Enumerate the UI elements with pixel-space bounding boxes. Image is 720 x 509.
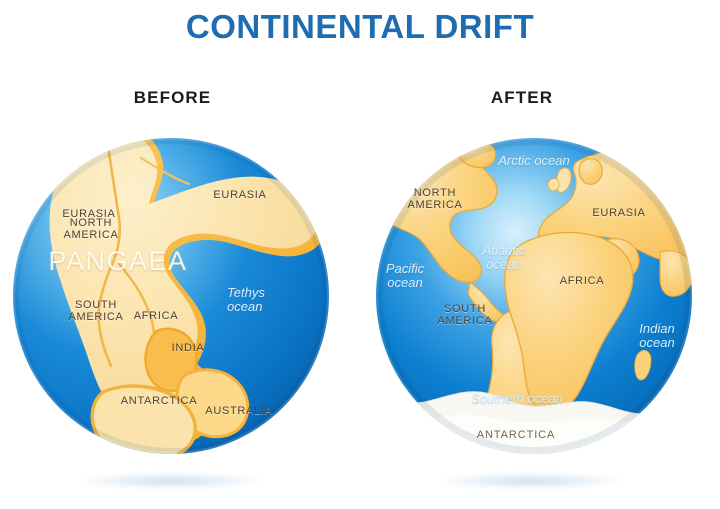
globe-before-pangaea: EURASIA NORTH AMERICA PANGAEA SOUTH AMER… <box>11 136 331 456</box>
poster-canvas: CONTINENTAL DRIFT BEFORE AFTER <box>0 0 720 509</box>
globe-after-svg <box>374 136 694 456</box>
globe-shadow-after <box>438 473 623 489</box>
landmass-ireland <box>548 179 559 191</box>
panel-caption-before: BEFORE <box>0 88 345 108</box>
globe-after-modern: Arctic ocean NORTH AMERICA EURASIA Atlan… <box>374 136 694 456</box>
globe-before-svg <box>11 136 331 456</box>
globe-shadow-before <box>78 473 263 489</box>
panel-caption-after: AFTER <box>352 88 692 108</box>
landmass-scandinavia <box>579 159 602 185</box>
page-title: CONTINENTAL DRIFT <box>0 8 720 46</box>
